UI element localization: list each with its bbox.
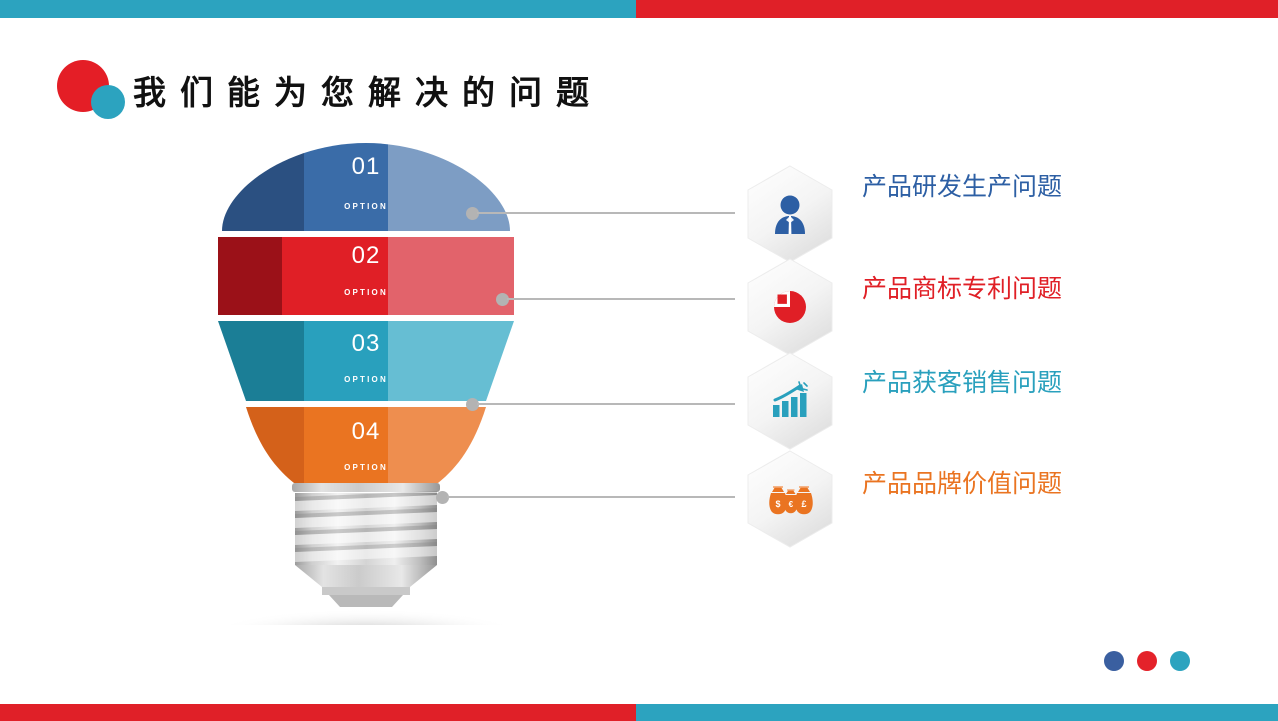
item-label-4: 产品品牌价值问题 bbox=[862, 464, 1062, 500]
svg-text:$: $ bbox=[775, 499, 780, 509]
connector-rule-3 bbox=[477, 403, 735, 405]
top-bar-left-segment bbox=[0, 0, 636, 18]
connector-rule-1 bbox=[477, 212, 735, 214]
segment-02-number: 02 bbox=[196, 242, 536, 270]
connector-line-2 bbox=[496, 289, 746, 309]
icon-badge-4[interactable]: $ € £ bbox=[744, 449, 836, 549]
svg-text:£: £ bbox=[801, 499, 806, 509]
logo-teal-circle-icon bbox=[91, 85, 125, 119]
connector-line-1 bbox=[466, 203, 746, 223]
bar-chart-growth-icon bbox=[744, 351, 836, 451]
icon-badge-2[interactable] bbox=[744, 257, 836, 357]
segment-01-number: 01 bbox=[196, 153, 536, 181]
page-dot-blue[interactable] bbox=[1104, 651, 1124, 671]
pie-chart-icon bbox=[744, 257, 836, 357]
item-label-3: 产品获客销售问题 bbox=[862, 363, 1062, 399]
segment-04-number: 04 bbox=[196, 418, 536, 446]
top-bar-right-segment bbox=[636, 0, 1278, 18]
segment-03-number: 03 bbox=[196, 330, 536, 358]
segment-04-option: OPTION bbox=[196, 463, 536, 472]
icon-badge-1[interactable] bbox=[744, 164, 836, 264]
svg-text:€: € bbox=[789, 500, 794, 509]
bottom-accent-bar bbox=[0, 704, 1278, 721]
page-dot-teal[interactable] bbox=[1170, 651, 1190, 671]
bottom-bar-right-segment bbox=[636, 704, 1278, 721]
item-label-2: 产品商标专利问题 bbox=[862, 269, 1062, 305]
connector-rule-4 bbox=[447, 496, 735, 498]
segment-02-option: OPTION bbox=[196, 288, 536, 297]
person-icon bbox=[744, 164, 836, 264]
item-label-1: 产品研发生产问题 bbox=[862, 167, 1062, 203]
connector-line-3 bbox=[466, 394, 746, 414]
logo-mark bbox=[57, 60, 139, 122]
top-accent-bar bbox=[0, 0, 1278, 18]
money-bags-icon: $ € £ bbox=[744, 449, 836, 549]
page-dot-red[interactable] bbox=[1137, 651, 1157, 671]
segment-03-option: OPTION bbox=[196, 375, 536, 384]
slide-canvas: 我们能为您解决的问题 bbox=[0, 0, 1278, 721]
page-indicator-dots[interactable] bbox=[1104, 651, 1190, 671]
page-title: 我们能为您解决的问题 bbox=[133, 66, 603, 114]
bottom-bar-left-segment bbox=[0, 704, 636, 721]
connector-line-4 bbox=[436, 487, 746, 507]
connector-rule-2 bbox=[507, 298, 735, 300]
slide-header: 我们能为您解决的问题 bbox=[0, 52, 1278, 132]
icon-badge-3[interactable] bbox=[744, 351, 836, 451]
bulb-screw-base bbox=[292, 483, 440, 607]
